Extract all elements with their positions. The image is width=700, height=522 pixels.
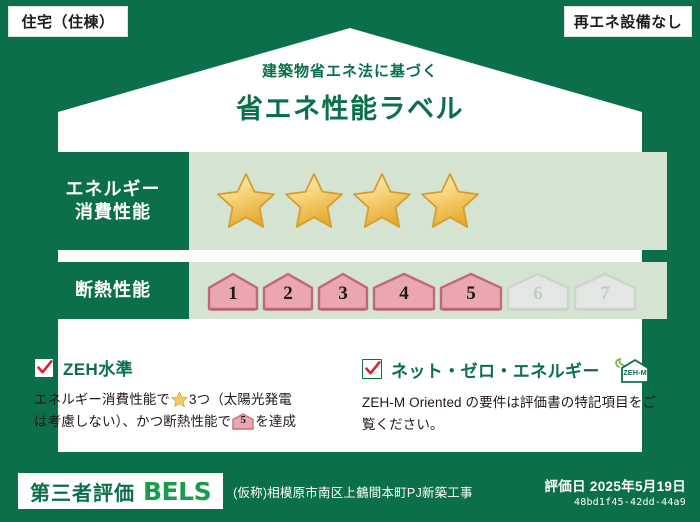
renewable-equipment-tag-text: 再エネ設備なし <box>574 11 683 32</box>
zeh-desc-part-a: エネルギー消費性能で <box>34 392 170 407</box>
third-party-evaluation-label: 第三者評価 <box>30 477 135 506</box>
label-subtitle: 建築物省エネ法に基づく <box>0 60 700 81</box>
energy-performance-body <box>189 152 667 250</box>
energy-performance-label-line2: 消費性能 <box>75 201 151 224</box>
insulation-level-number: 1 <box>207 283 259 305</box>
insulation-performance-label-text: 断熱性能 <box>75 279 151 302</box>
insulation-performance-body: 1234567 <box>189 262 667 319</box>
zeh-standard-section: ZEH水準 エネルギー消費性能で 3つ（太陽光発電 は考慮しない）、かつ断熱性能… <box>34 355 334 433</box>
check-icon <box>34 358 54 378</box>
star-icon <box>351 171 413 231</box>
net-zero-energy-section: ネット・ゼロ・エネルギー ZEH-M ZEH-M Oriented ZEH-M … <box>362 355 662 436</box>
renewable-equipment-tag: 再エネ設備なし <box>564 6 692 37</box>
insulation-level-number: 6 <box>506 283 570 305</box>
insulation-level-1: 1 <box>207 271 259 311</box>
zeh-m-oriented-logo: ZEH-M ZEH-M Oriented <box>613 357 675 385</box>
building-type-tag: 住宅（住棟） <box>8 6 128 37</box>
zeh-desc-star-count: 3つ（太陽光発電 <box>189 392 292 407</box>
footer-bar: 第三者評価 BELS (仮称)相模原市南区上鶴間本町PJ新築工事 評価日 202… <box>0 460 700 522</box>
bels-badge: 第三者評価 BELS <box>18 473 223 509</box>
zeh-desc-part-b: は考慮しない）、かつ断熱性能で <box>34 414 231 429</box>
star-icon <box>283 171 345 231</box>
net-zero-description: ZEH-M Oriented の要件は評価書の特記項目をご覧ください。 <box>362 392 662 436</box>
insulation-level-scale: 1234567 <box>207 271 637 311</box>
evaluation-date: 評価日 2025年5月19日 <box>544 475 686 495</box>
insulation-level-7: 7 <box>573 271 637 311</box>
zeh-standard-title: ZEH水準 <box>63 355 133 380</box>
insulation-level-inline-number: 5 <box>232 412 254 430</box>
bels-energy-label: 住宅（住棟） 再エネ設備なし 建築物省エネ法に基づく 省エネ性能ラベル エネルギ… <box>0 0 700 522</box>
energy-performance-row: エネルギー 消費性能 <box>37 152 667 250</box>
insulation-level-5: 5 <box>439 271 503 311</box>
label-title: 省エネ性能ラベル <box>0 87 700 126</box>
insulation-level-inline-icon: 5 <box>232 413 254 430</box>
label-title-block: 建築物省エネ法に基づく 省エネ性能ラベル <box>0 60 700 126</box>
energy-performance-label: エネルギー 消費性能 <box>37 152 189 250</box>
insulation-level-number: 3 <box>317 283 369 305</box>
check-icon <box>362 359 382 379</box>
insulation-level-4: 4 <box>372 271 436 311</box>
insulation-level-6: 6 <box>506 271 570 311</box>
insulation-performance-row: 断熱性能 1234567 <box>37 262 667 319</box>
insulation-level-number: 5 <box>439 283 503 305</box>
svg-text:ZEH-M: ZEH-M <box>623 368 646 377</box>
zeh-standard-header: ZEH水準 <box>34 355 334 380</box>
zeh-standard-description: エネルギー消費性能で 3つ（太陽光発電 は考慮しない）、かつ断熱性能で 5 を達… <box>34 389 334 433</box>
zeh-desc-part-c: を達成 <box>255 414 296 429</box>
insulation-level-3: 3 <box>317 271 369 311</box>
insulation-level-2: 2 <box>262 271 314 311</box>
star-icon <box>171 391 188 408</box>
insulation-level-number: 2 <box>262 283 314 305</box>
star-icon <box>215 171 277 231</box>
net-zero-title: ネット・ゼロ・エネルギー <box>391 357 600 382</box>
star-icon <box>419 171 481 231</box>
star-rating <box>215 171 481 231</box>
building-type-tag-text: 住宅（住棟） <box>21 11 114 32</box>
insulation-level-number: 7 <box>573 283 637 305</box>
zeh-m-logo-caption: ZEH-M Oriented <box>657 366 675 376</box>
zeh-m-caption-line2: Oriented <box>657 371 675 376</box>
insulation-performance-label: 断熱性能 <box>37 262 189 319</box>
evaluation-info: 評価日 2025年5月19日 48bd1f45-42dd-44a9 <box>544 475 686 508</box>
net-zero-header: ネット・ゼロ・エネルギー ZEH-M ZEH-M Oriented <box>362 355 662 383</box>
building-name: (仮称)相模原市南区上鶴間本町PJ新築工事 <box>233 482 473 501</box>
evaluation-id: 48bd1f45-42dd-44a9 <box>544 497 686 508</box>
energy-performance-label-line1: エネルギー <box>66 178 161 201</box>
bels-logo-text: BELS <box>143 477 211 506</box>
insulation-level-number: 4 <box>372 283 436 305</box>
